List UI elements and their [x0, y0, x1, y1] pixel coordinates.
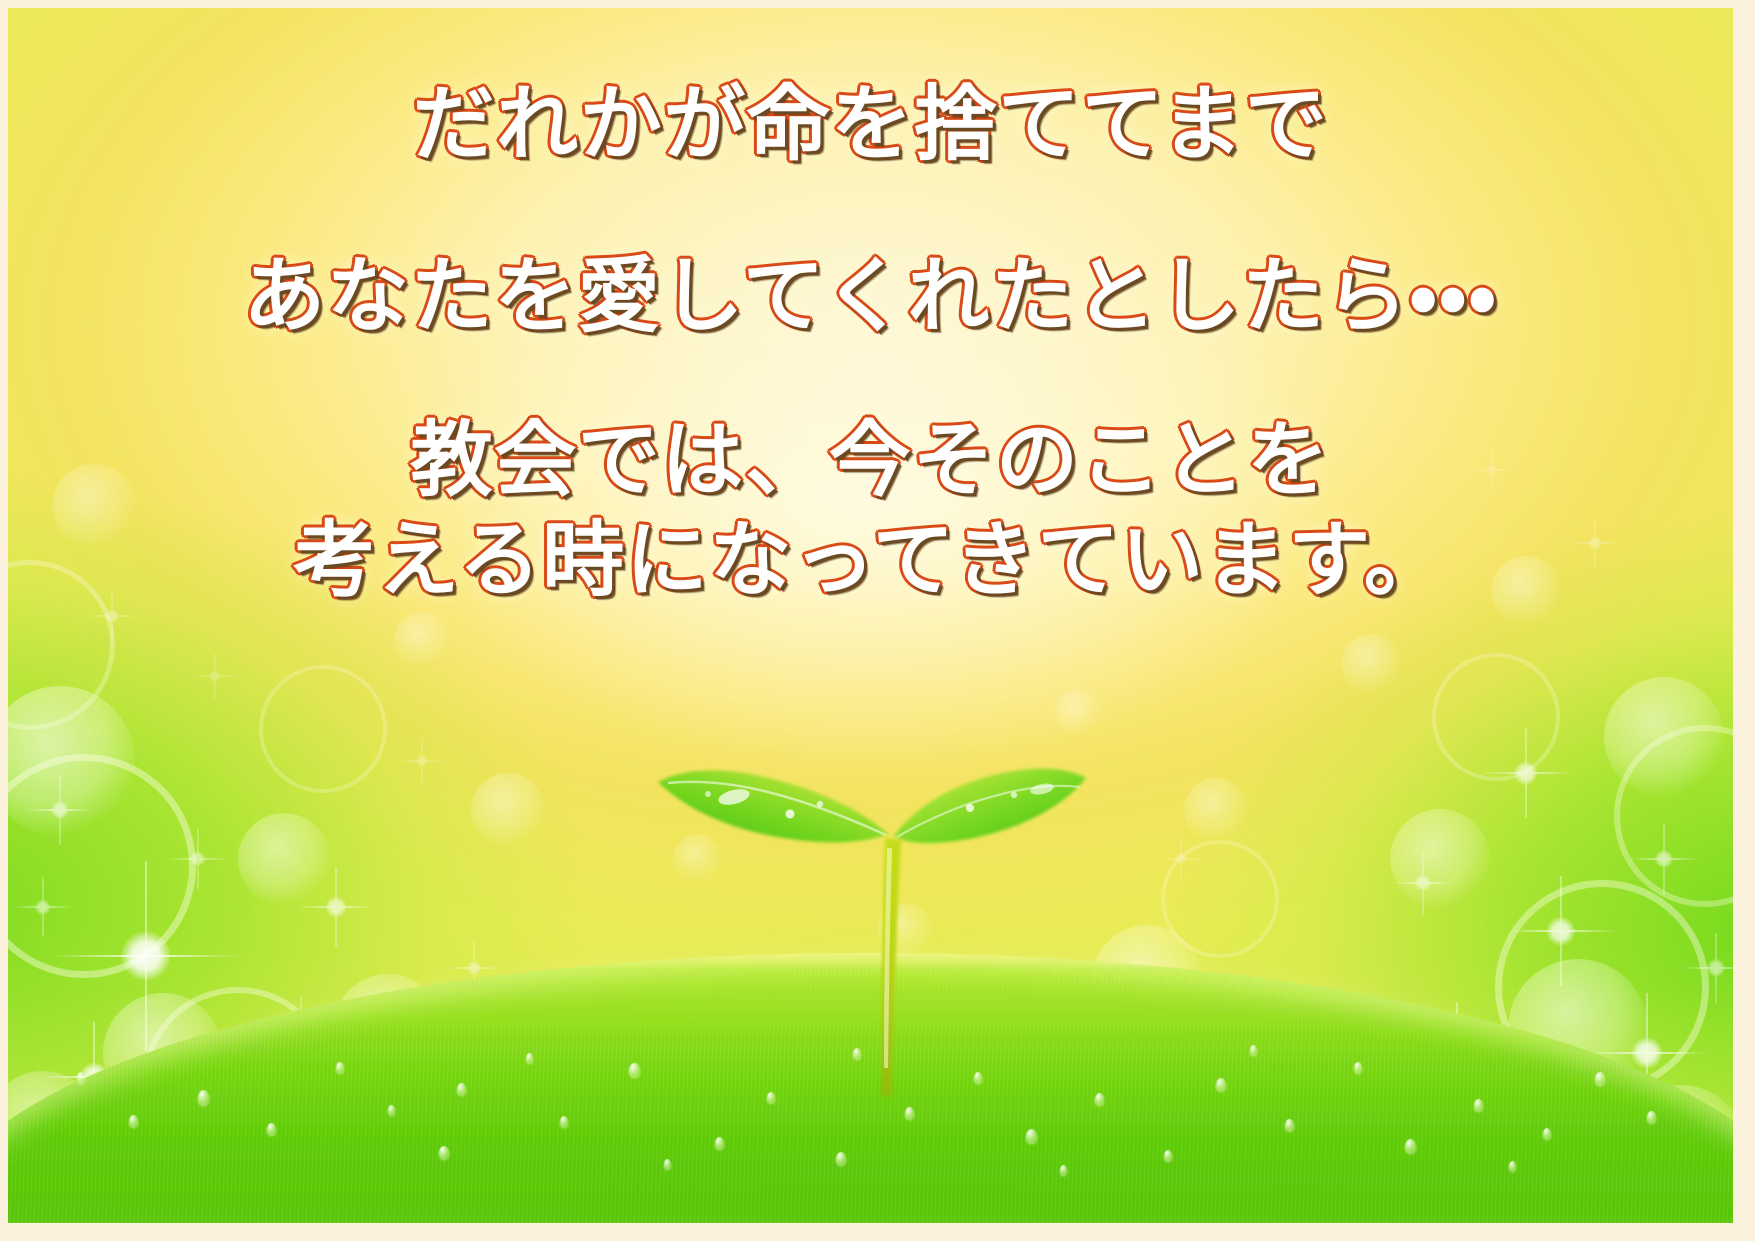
line-spacer-1 [8, 168, 1733, 254]
line-spacer-2 [8, 340, 1733, 418]
message-line-4: 考える時になってきています。 [8, 518, 1733, 604]
artwork-plate: だれかが命を捨ててまで あなたを愛してくれたとしたら・・・ 教会では、今そのこと… [8, 8, 1733, 1223]
message-text-block: だれかが命を捨ててまで あなたを愛してくれたとしたら・・・ 教会では、今そのこと… [8, 82, 1733, 604]
inspirational-card: だれかが命を捨ててまで あなたを愛してくれたとしたら・・・ 教会では、今そのこと… [0, 0, 1755, 1241]
message-line-2: あなたを愛してくれたとしたら・・・ [8, 254, 1733, 340]
message-line-3: 教会では、今そのことを [8, 418, 1733, 504]
message-line-1: だれかが命を捨ててまで [8, 82, 1733, 168]
